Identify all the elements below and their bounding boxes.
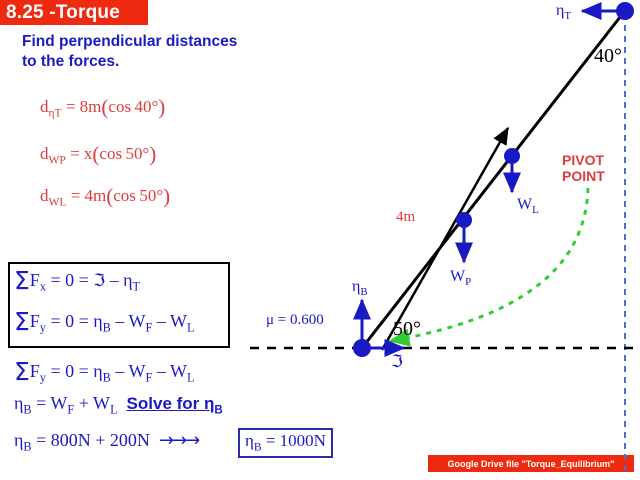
pivot-line-1: PIVOT xyxy=(562,152,605,168)
label-pivot-point: PIVOT POINT xyxy=(562,152,605,184)
dot-w-p xyxy=(456,212,472,228)
equation-sum-fy: ΣFy = 0 = ηB – WF – WL xyxy=(14,307,194,336)
equation-d-wp: dWP = x(cos 50°) xyxy=(40,142,156,167)
equation-sum-fx: ΣFx = 0 = ℑ – ηT xyxy=(14,266,140,295)
prompt-text: Find perpendicular distances to the forc… xyxy=(22,32,272,73)
dot-base xyxy=(353,339,371,357)
equation-d-eta-t: dηT = 8m(cos 40°) xyxy=(40,95,165,120)
label-friction: ℑ xyxy=(391,352,403,372)
footer-banner: Google Drive file "Torque_Equilibrium" xyxy=(428,455,634,472)
label-w-p: WP xyxy=(450,268,471,288)
dot-top-pivot xyxy=(616,2,634,20)
label-angle-top: 40° xyxy=(594,45,622,68)
label-mu: μ = 0.600 xyxy=(266,312,324,329)
equation-d-wl: dWL = 4m(cos 50°) xyxy=(40,184,170,209)
label-length-4m: 4m xyxy=(396,209,415,226)
label-eta-t: ηT xyxy=(556,2,571,22)
prompt-line-2: to the forces. xyxy=(22,52,272,72)
answer-box: ηB = 1000N xyxy=(238,428,333,458)
footer-text: Google Drive file "Torque_Equilibrium" xyxy=(448,459,615,469)
dot-w-l xyxy=(504,148,520,164)
label-w-l: WL xyxy=(517,196,539,216)
label-angle-bottom: 50° xyxy=(393,318,421,341)
prompt-line-1: Find perpendicular distances xyxy=(22,32,272,52)
page-title: 8.25 -Torque xyxy=(6,2,120,24)
pivot-line-2: POINT xyxy=(562,168,605,184)
length-4m-arrow xyxy=(382,128,508,350)
slide-canvas: 8.25 -Torque Find perpendicular distance… xyxy=(0,0,640,480)
equation-solve-line: ηB = WF + WL Solve for ηB xyxy=(14,393,223,418)
label-eta-b: ηB xyxy=(352,278,368,298)
solve-for-label: Solve for ηB xyxy=(127,394,223,413)
equation-sum-fy-repeat: ΣFy = 0 = ηB – WF – WL xyxy=(14,357,194,386)
equation-final-line: ηB = 800N + 200N →→→ xyxy=(14,430,198,455)
title-banner: 8.25 -Torque xyxy=(0,0,148,25)
